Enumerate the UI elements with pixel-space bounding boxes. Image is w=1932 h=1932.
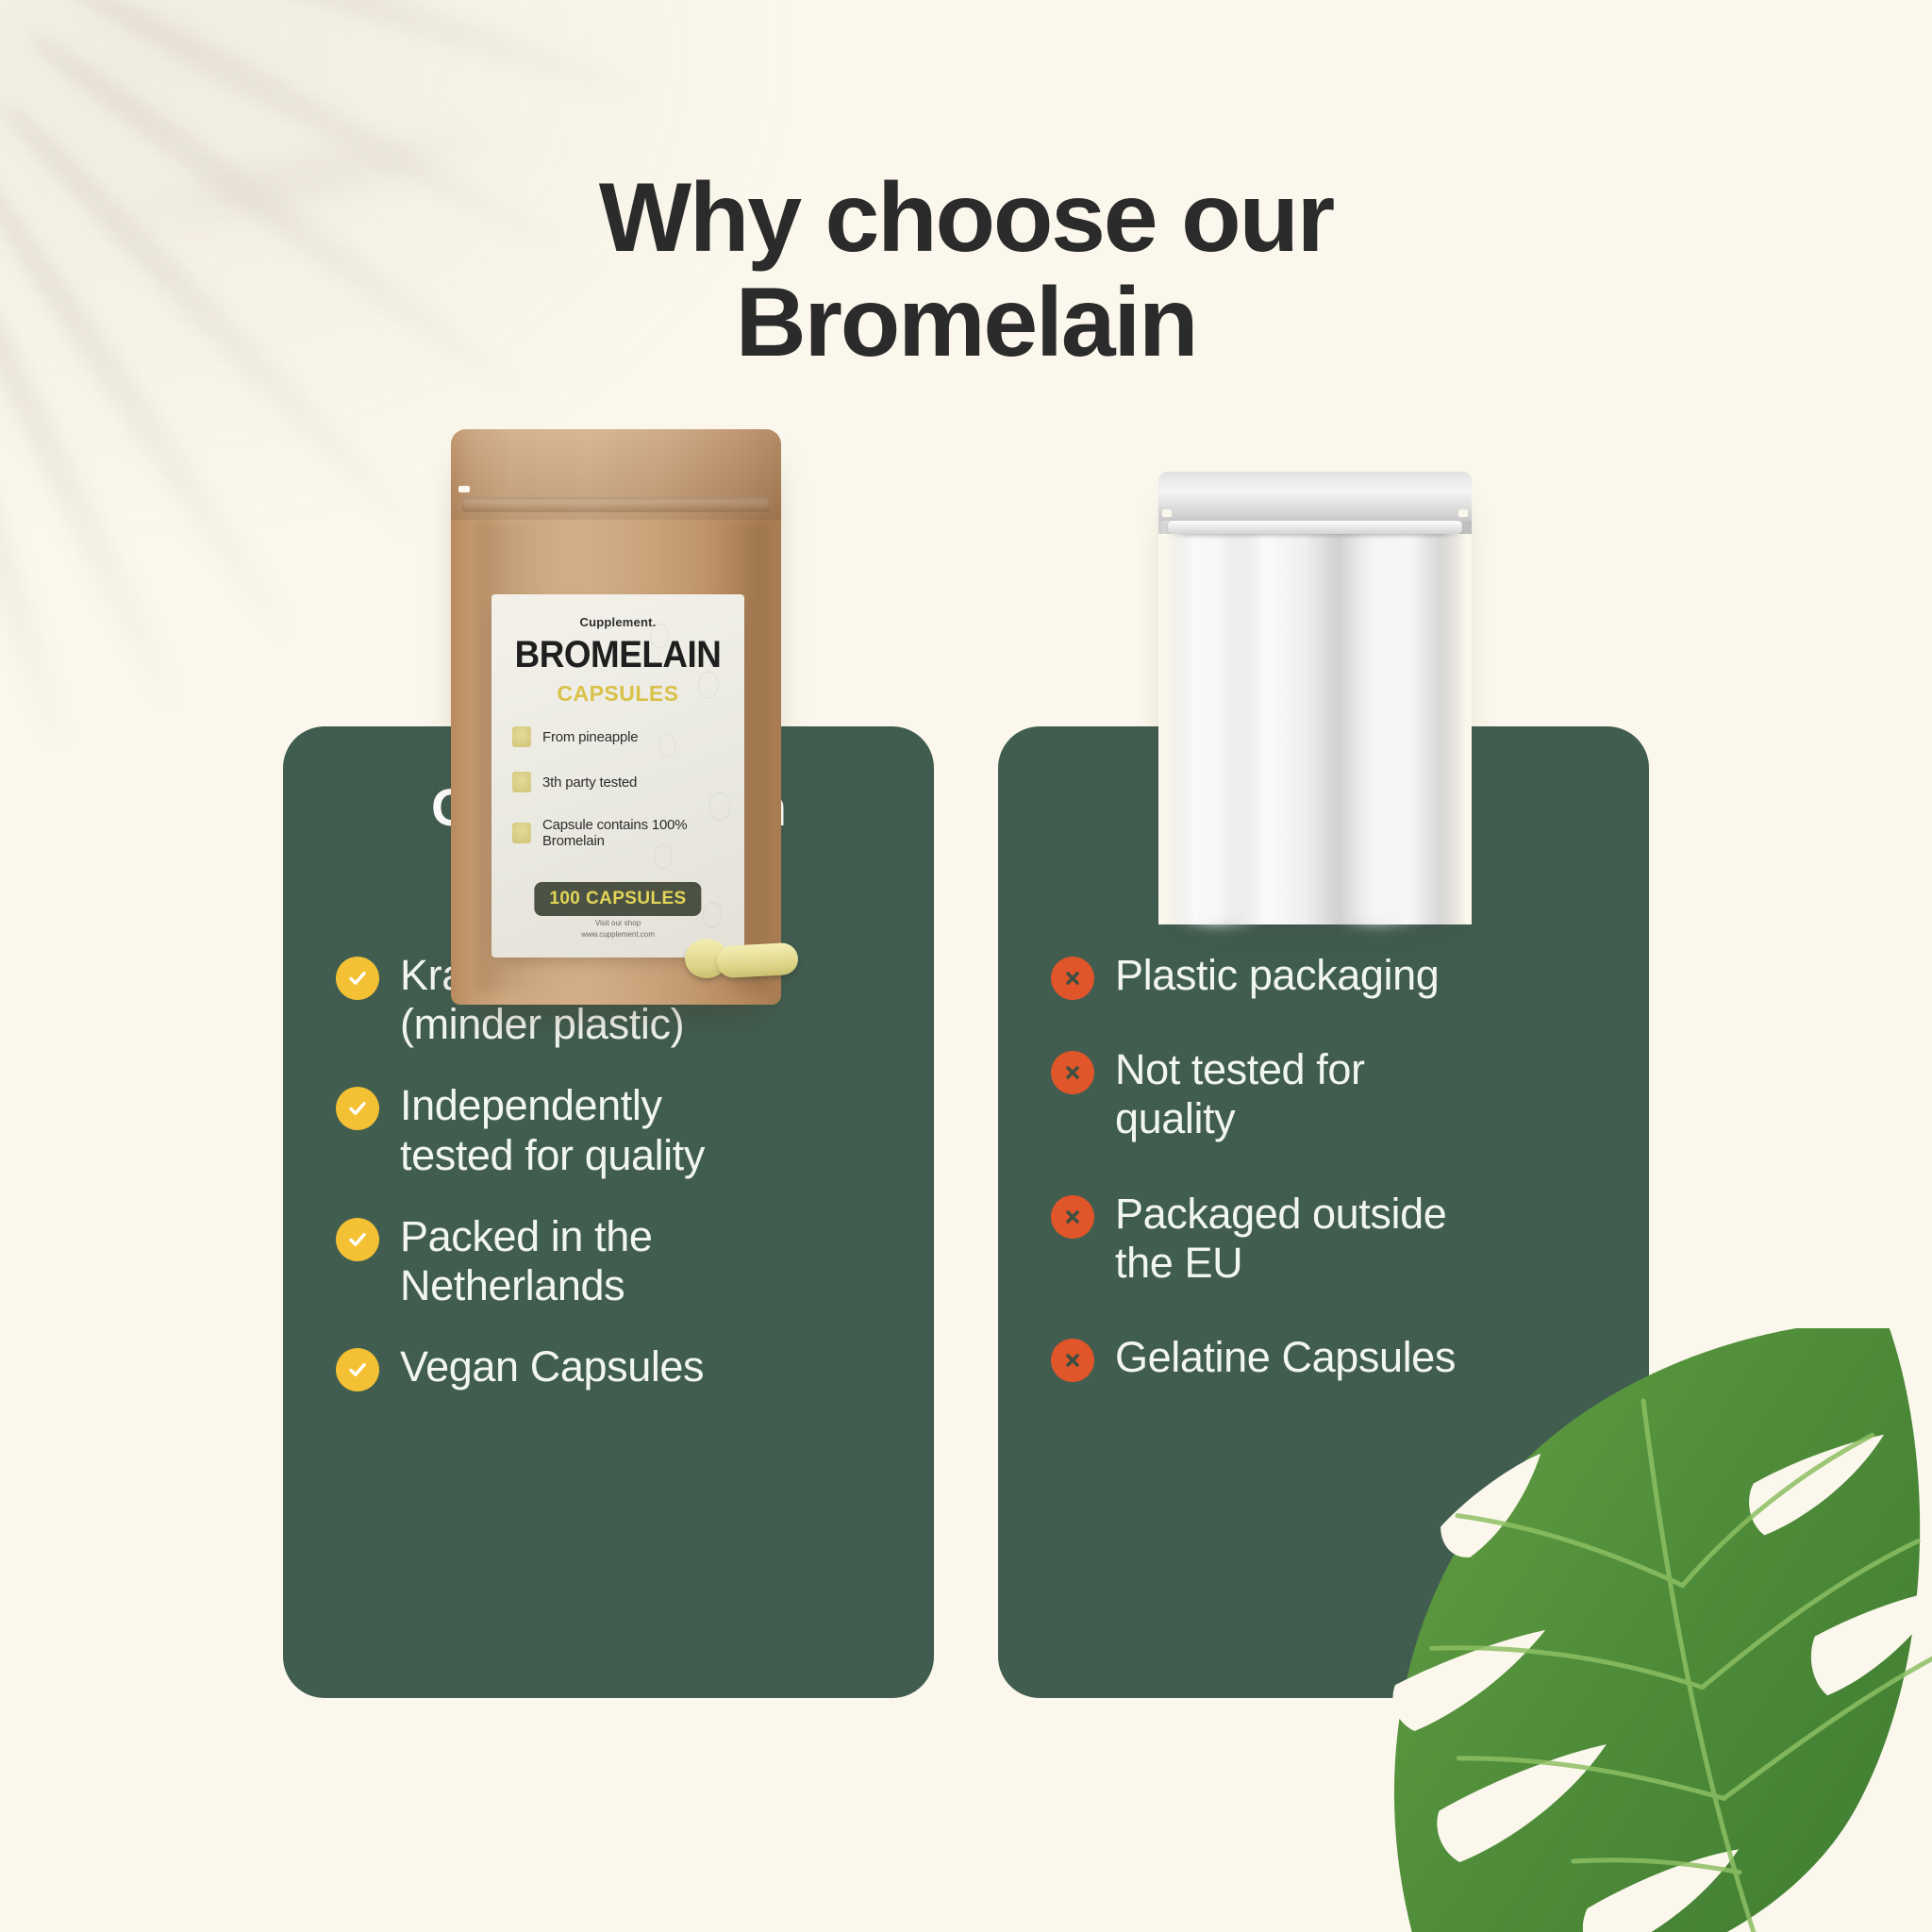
- capsule-icon: [512, 823, 531, 843]
- pouch-footer: Visit our shop www.cupplement.com: [491, 918, 744, 941]
- feature-item: Packed in theNetherlands: [336, 1212, 892, 1310]
- pouch-bullet-label: From pineapple: [542, 729, 638, 745]
- feature-label: Packed in theNetherlands: [400, 1212, 652, 1310]
- lab-flask-icon: [512, 772, 531, 792]
- pouch-brand: Cupplement.: [491, 615, 744, 629]
- capsule-body: [716, 942, 799, 978]
- pouch-subtitle: CAPSULES: [491, 681, 744, 707]
- check-circle-icon: [336, 1348, 379, 1391]
- feature-label: Gelatine Capsules: [1115, 1333, 1456, 1382]
- feature-label: Independentlytested for quality: [400, 1081, 705, 1179]
- cross-circle-icon: [1051, 1195, 1094, 1239]
- feature-label: Vegan Capsules: [400, 1342, 704, 1391]
- pouch-bullet: From pineapple: [512, 726, 731, 747]
- feature-label: Not tested forquality: [1115, 1045, 1365, 1143]
- pouch-bullet-list: From pineapple 3th party tested Capsule …: [512, 726, 731, 874]
- feature-list-ours: Kraft pouch(minder plastic) Independentl…: [283, 951, 934, 1391]
- feature-label: Packaged outsidethe EU: [1115, 1190, 1446, 1288]
- cross-circle-icon: [1051, 957, 1094, 1000]
- promo-graphic: Why choose our Bromelain Our Bromelain C…: [0, 0, 1932, 1932]
- pineapple-icon: [512, 726, 531, 747]
- feature-list-others: Plastic packaging Not tested forquality …: [998, 951, 1649, 1382]
- pouch-count-badge: 100 CAPSULES: [534, 882, 701, 916]
- pouch-title: BROMELAIN: [502, 634, 735, 676]
- pouch-bullet: 3th party tested: [512, 772, 731, 792]
- pouch-bullet: Capsule contains 100% Bromelain: [512, 817, 731, 849]
- feature-item: Packaged outsidethe EU: [1051, 1190, 1607, 1288]
- competitor-pouch-silver: [1158, 472, 1472, 924]
- page-title-line1: Why choose our: [599, 163, 1333, 273]
- feature-item: Independentlytested for quality: [336, 1081, 892, 1179]
- product-pouch-kraft: Cupplement. BROMELAIN CAPSULES From pine…: [451, 429, 781, 1005]
- pouch-bullet-label: Capsule contains 100% Bromelain: [542, 817, 731, 849]
- check-circle-icon: [336, 1087, 379, 1130]
- page-title-line2: Bromelain: [0, 271, 1932, 375]
- feature-item: Gelatine Capsules: [1051, 1333, 1607, 1382]
- pouch-footer-line1: Visit our shop: [491, 918, 744, 929]
- feature-item: Vegan Capsules: [336, 1342, 892, 1391]
- pouch-label: Cupplement. BROMELAIN CAPSULES From pine…: [491, 594, 744, 958]
- cross-circle-icon: [1051, 1051, 1094, 1094]
- check-circle-icon: [336, 957, 379, 1000]
- feature-item: Plastic packaging: [1051, 951, 1607, 1000]
- pouch-bullet-label: 3th party tested: [542, 774, 637, 791]
- check-circle-icon: [336, 1218, 379, 1261]
- cross-circle-icon: [1051, 1339, 1094, 1382]
- page-title: Why choose our Bromelain: [0, 166, 1932, 376]
- feature-label: Plastic packaging: [1115, 951, 1439, 1000]
- feature-item: Not tested forquality: [1051, 1045, 1607, 1143]
